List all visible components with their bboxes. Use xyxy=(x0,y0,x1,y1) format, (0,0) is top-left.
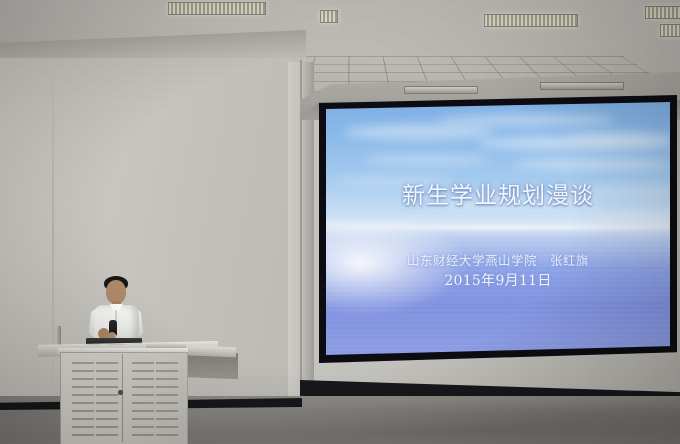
troffer-2 xyxy=(320,10,338,23)
troffer-4 xyxy=(484,14,578,27)
lectern-door-seam xyxy=(122,354,123,442)
lectern-vent xyxy=(156,362,178,436)
troffer-3 xyxy=(645,6,680,19)
projection-screen: 新生学业规划漫谈 山东财经大学燕山学院 张红旗 2015年9月11日 xyxy=(326,102,670,355)
troffer-5 xyxy=(660,24,680,37)
slot-light-left xyxy=(404,86,478,94)
slide-date: 2015年9月11日 xyxy=(326,270,670,290)
slide-cloud xyxy=(344,124,494,140)
lectern-vent xyxy=(132,362,154,436)
slide-cloud xyxy=(362,154,492,165)
slide-presenter-line: 山东财经大学燕山学院 张红旗 xyxy=(326,250,670,269)
slide-cloud xyxy=(566,132,670,142)
lecture-hall-photo: 新生学业规划漫谈 山东财经大学燕山学院 张红旗 2015年9月11日 xyxy=(0,0,680,444)
lectern-vent xyxy=(96,362,118,436)
slide-cloud xyxy=(586,210,670,219)
slide-cloud xyxy=(512,158,670,170)
troffer-1 xyxy=(168,2,266,15)
slide-title: 新生学业规划漫谈 xyxy=(326,176,670,210)
slide-water-ripples xyxy=(326,230,670,355)
slot-light-right xyxy=(540,82,624,90)
lectern-vent xyxy=(72,362,94,436)
slide-cloud xyxy=(436,114,616,127)
lock-icon xyxy=(118,390,123,395)
